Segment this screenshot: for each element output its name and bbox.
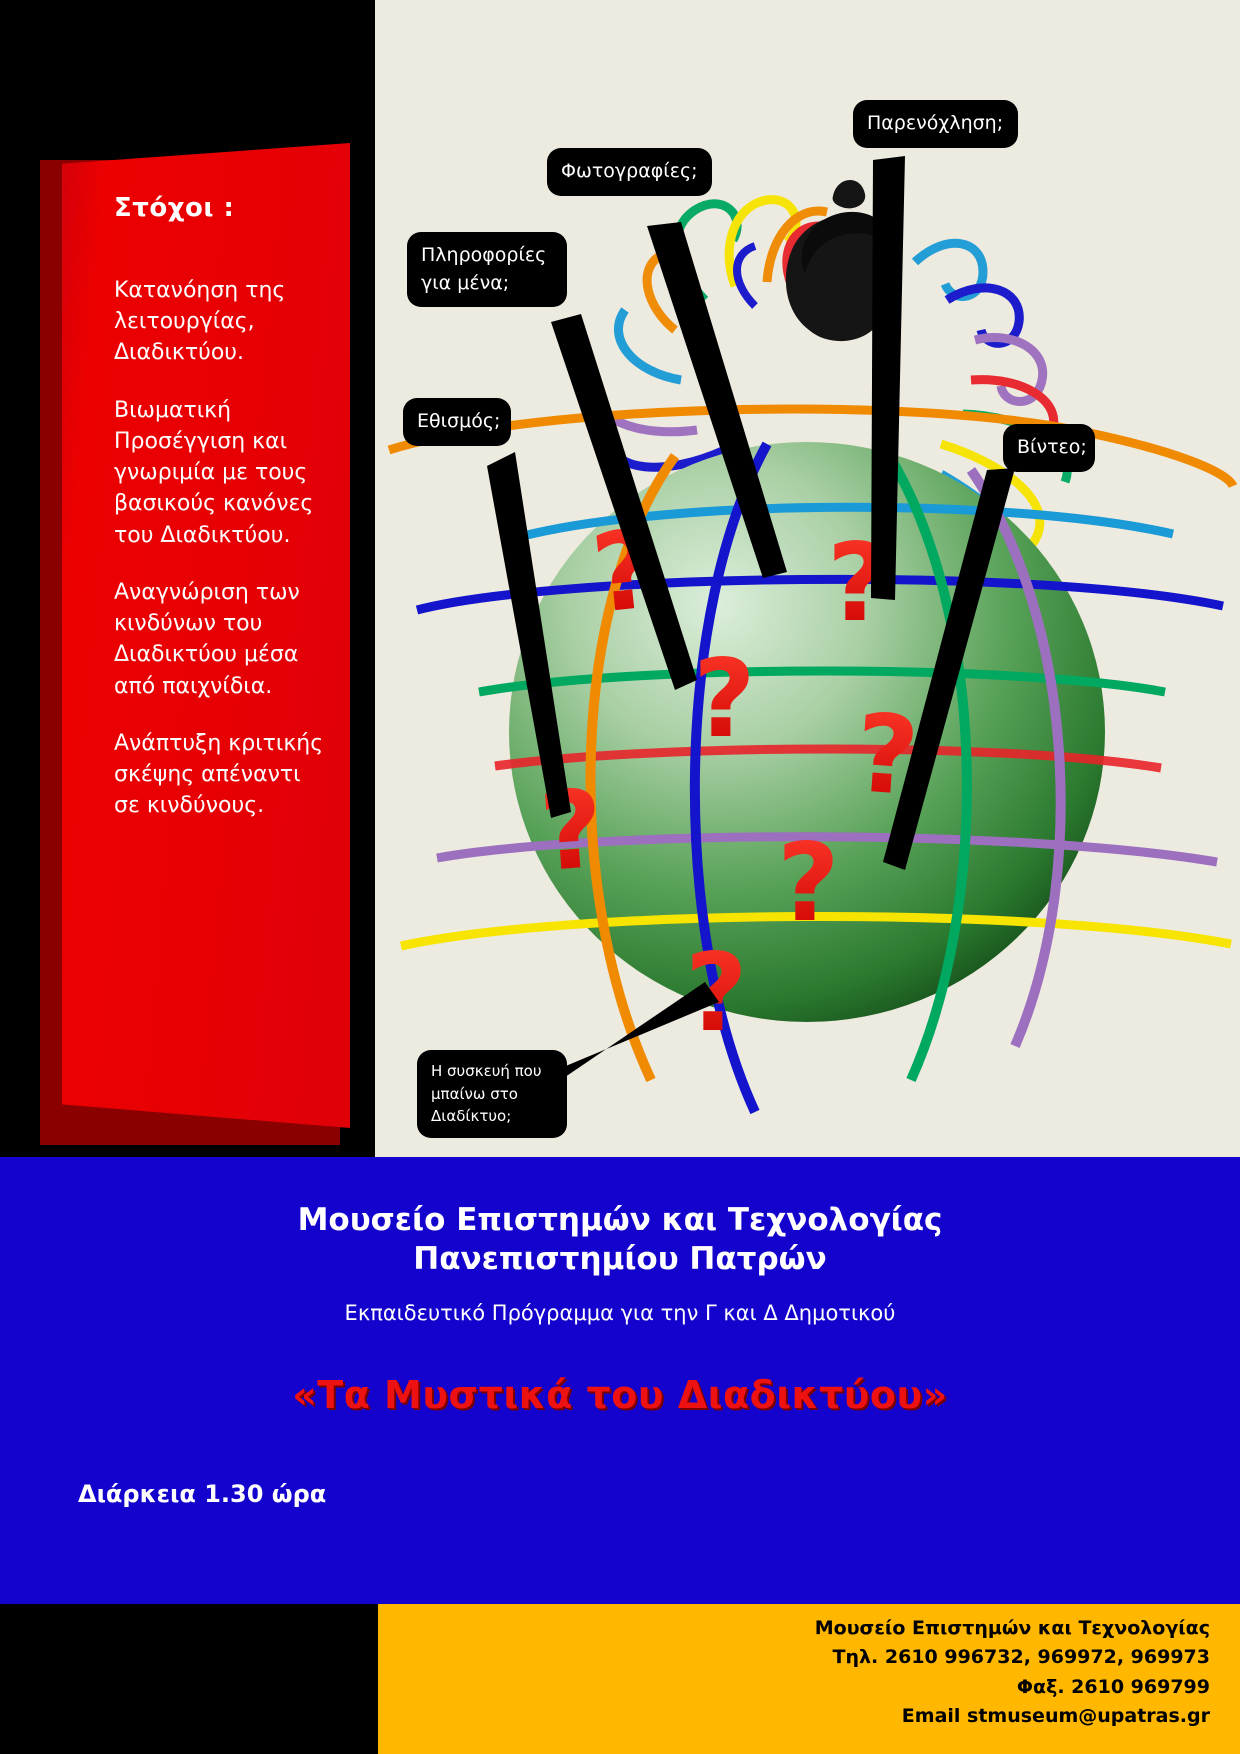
museum-name-line1: Μουσείο Επιστημών και Τεχνολογίας [0,1201,1240,1240]
svg-text:?: ? [693,637,756,762]
duration-label: Διάρκεια 1.30 ώρα [78,1480,326,1508]
bubble-info-about-me-label: Πληροφορίες για μένα; [421,244,546,294]
objective-item-1: Κατανόηση της λειτουργίας, Διαδικτύου. [114,275,326,369]
contact-phone: Τηλ. 2610 996732, 969972, 969973 [815,1643,1210,1672]
contact-fax: Φαξ. 2610 969799 [815,1673,1210,1702]
objective-item-4: Ανάπτυξη κριτικής σκέψης απέναντι σε κιν… [114,728,326,822]
bubble-harassment[interactable]: Παρενόχληση; [853,100,1018,148]
objectives-title: Στόχοι : [114,193,326,223]
poster-root: ? ? ? ? ? ? ? Παρενόχληση; Φωτ [0,0,1240,1754]
objectives-panel: Στόχοι : Κατανόηση της λειτουργίας, Διαδ… [62,143,350,1128]
bubble-photos-label: Φωτογραφίες; [561,160,698,182]
bubble-addiction[interactable]: Εθισμός; [403,398,511,446]
bubble-info-about-me[interactable]: Πληροφορίες για μένα; [407,232,567,307]
contact-block: Μουσείο Επιστημών και Τεχνολογίας Τηλ. 2… [815,1614,1210,1732]
bubble-video-label: Βίντεο; [1017,436,1087,458]
bubble-addiction-label: Εθισμός; [417,410,500,432]
objective-item-2: Βιωματική Προσέγγιση και γνωριμία με του… [114,395,326,551]
globe-illustration: ? ? ? ? ? ? ? [375,0,1240,1157]
bubble-video[interactable]: Βίντεο; [1003,424,1095,472]
artwork-panel: ? ? ? ? ? ? ? Παρενόχληση; Φωτ [375,0,1240,1157]
bubble-device[interactable]: Η συσκευή που μπαίνω στο Διαδίκτυο; [417,1050,567,1138]
contact-yellow-block: Μουσείο Επιστημών και Τεχνολογίας Τηλ. 2… [378,1604,1240,1754]
svg-text:?: ? [777,821,840,946]
contact-name: Μουσείο Επιστημών και Τεχνολογίας [815,1614,1210,1643]
footer-blue-band: Μουσείο Επιστημών και Τεχνολογίας Πανεπι… [0,1157,1240,1604]
bubble-device-label: Η συσκευή που μπαίνω στο Διαδίκτυο; [431,1062,542,1125]
museum-name-line2: Πανεπιστημίου Πατρών [0,1240,1240,1279]
bubble-photos[interactable]: Φωτογραφίες; [547,148,712,196]
footer-black-block [0,1604,378,1754]
program-title: «Τα Μυστικά του Διαδικτύου» [0,1325,1240,1417]
program-subtitle: Εκπαιδευτικό Πρόγραμμα για την Γ και Δ Δ… [0,1279,1240,1325]
bubble-harassment-label: Παρενόχληση; [867,112,1003,134]
contact-email: Email stmuseum@upatras.gr [815,1702,1210,1731]
objective-item-3: Αναγνώριση των κινδύνων του Διαδικτύου μ… [114,577,326,702]
